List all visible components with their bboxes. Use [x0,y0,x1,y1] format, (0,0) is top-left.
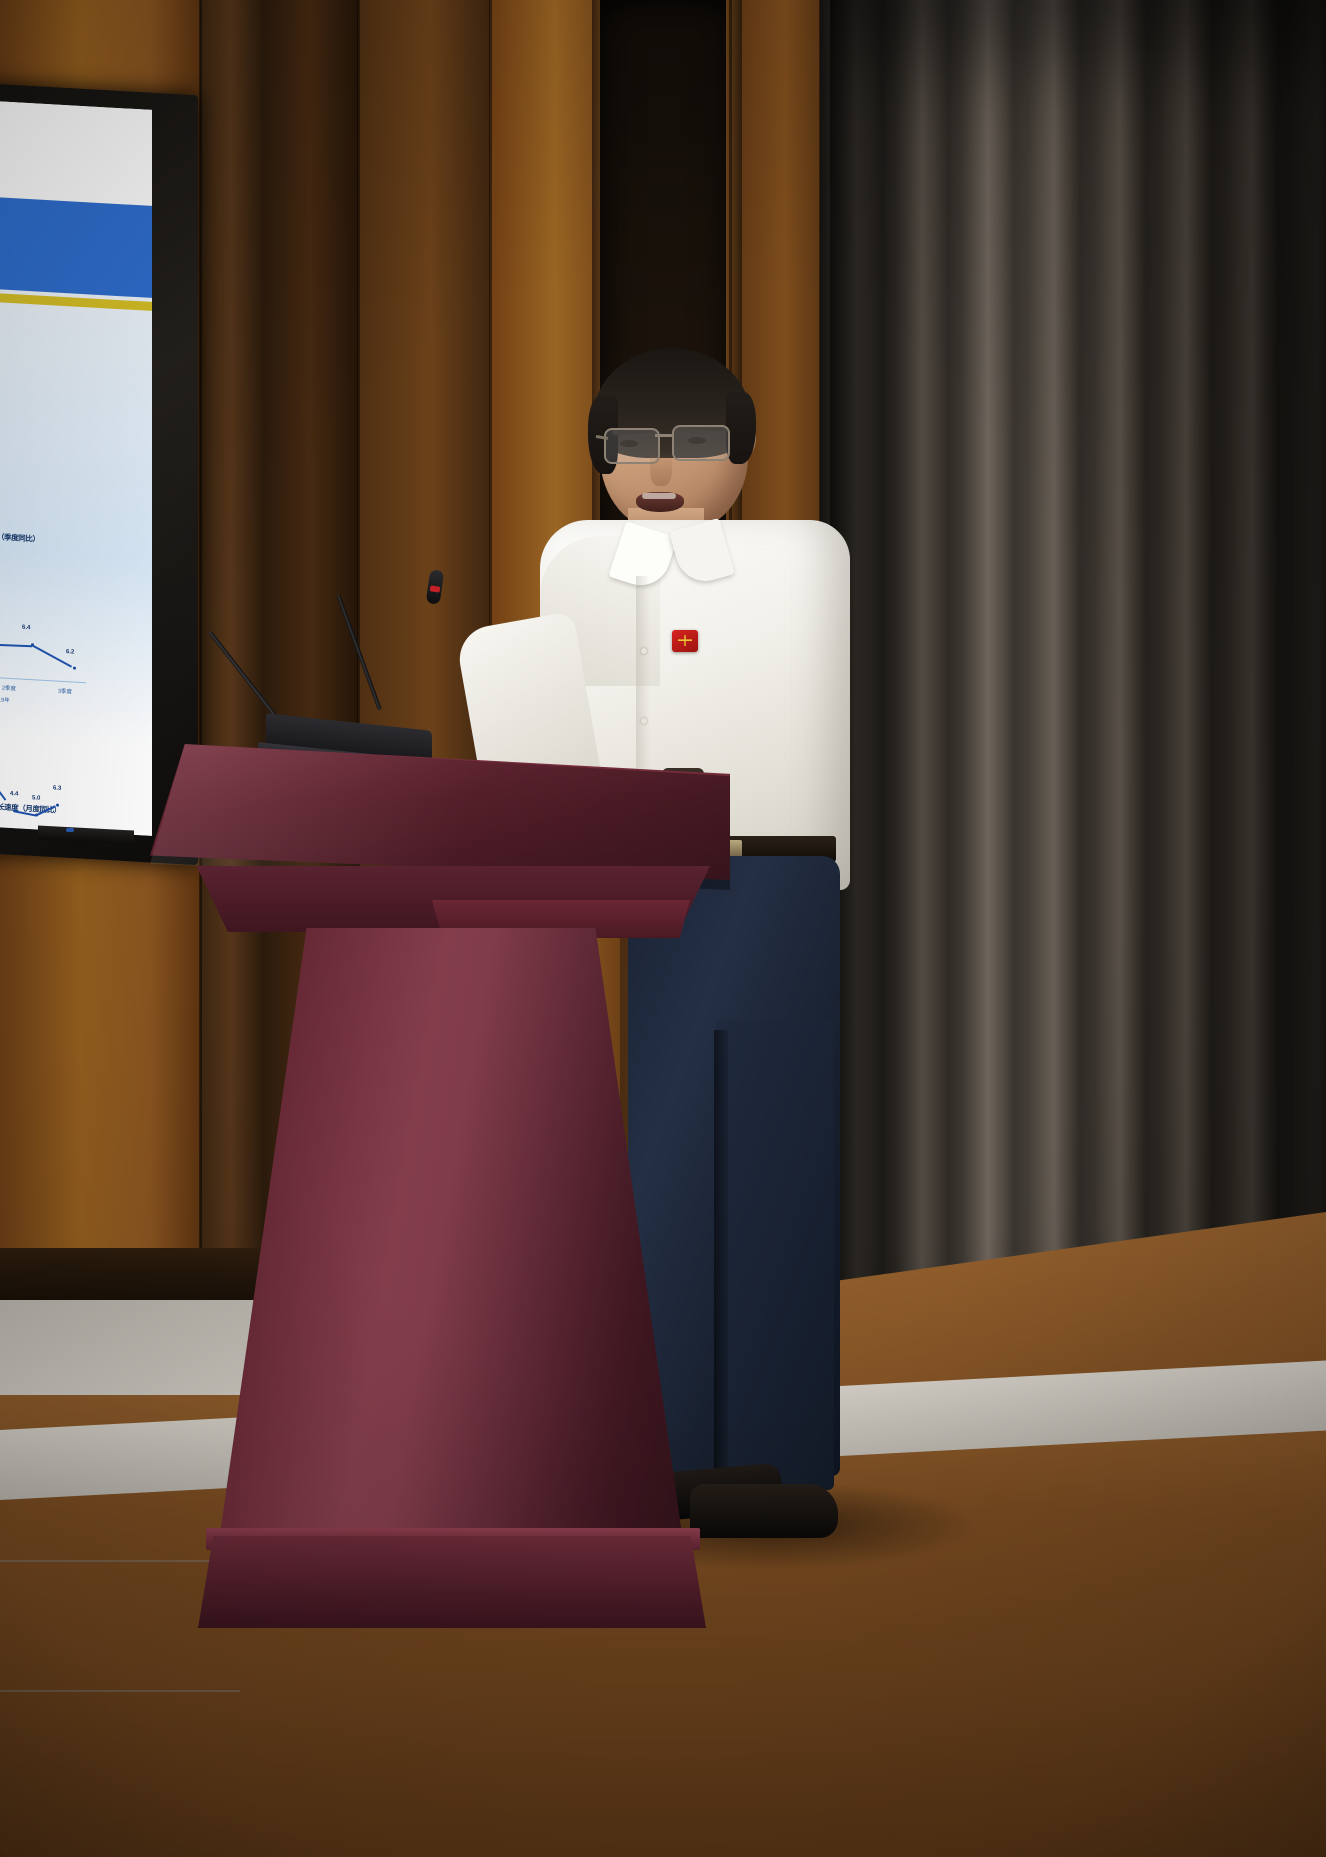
shirt-button [641,648,647,654]
trouser-seam [714,1030,728,1490]
speaker-teeth [642,493,676,499]
photograph-scene: 国家统计局 国内生产总值增长速度（季度同比） 6.4 6.4 6.2 1季度 2… [0,0,1326,1857]
lectern-base [198,1536,706,1628]
speaker-nose [650,452,672,486]
microphone-indicator [430,585,441,592]
trouser-leg [716,1020,834,1490]
eyeglasses-lens [672,425,730,461]
speaker-hair-side [726,392,756,464]
shirt-button [641,718,647,724]
shoe [690,1484,838,1538]
eyeglasses-bridge [655,434,673,437]
